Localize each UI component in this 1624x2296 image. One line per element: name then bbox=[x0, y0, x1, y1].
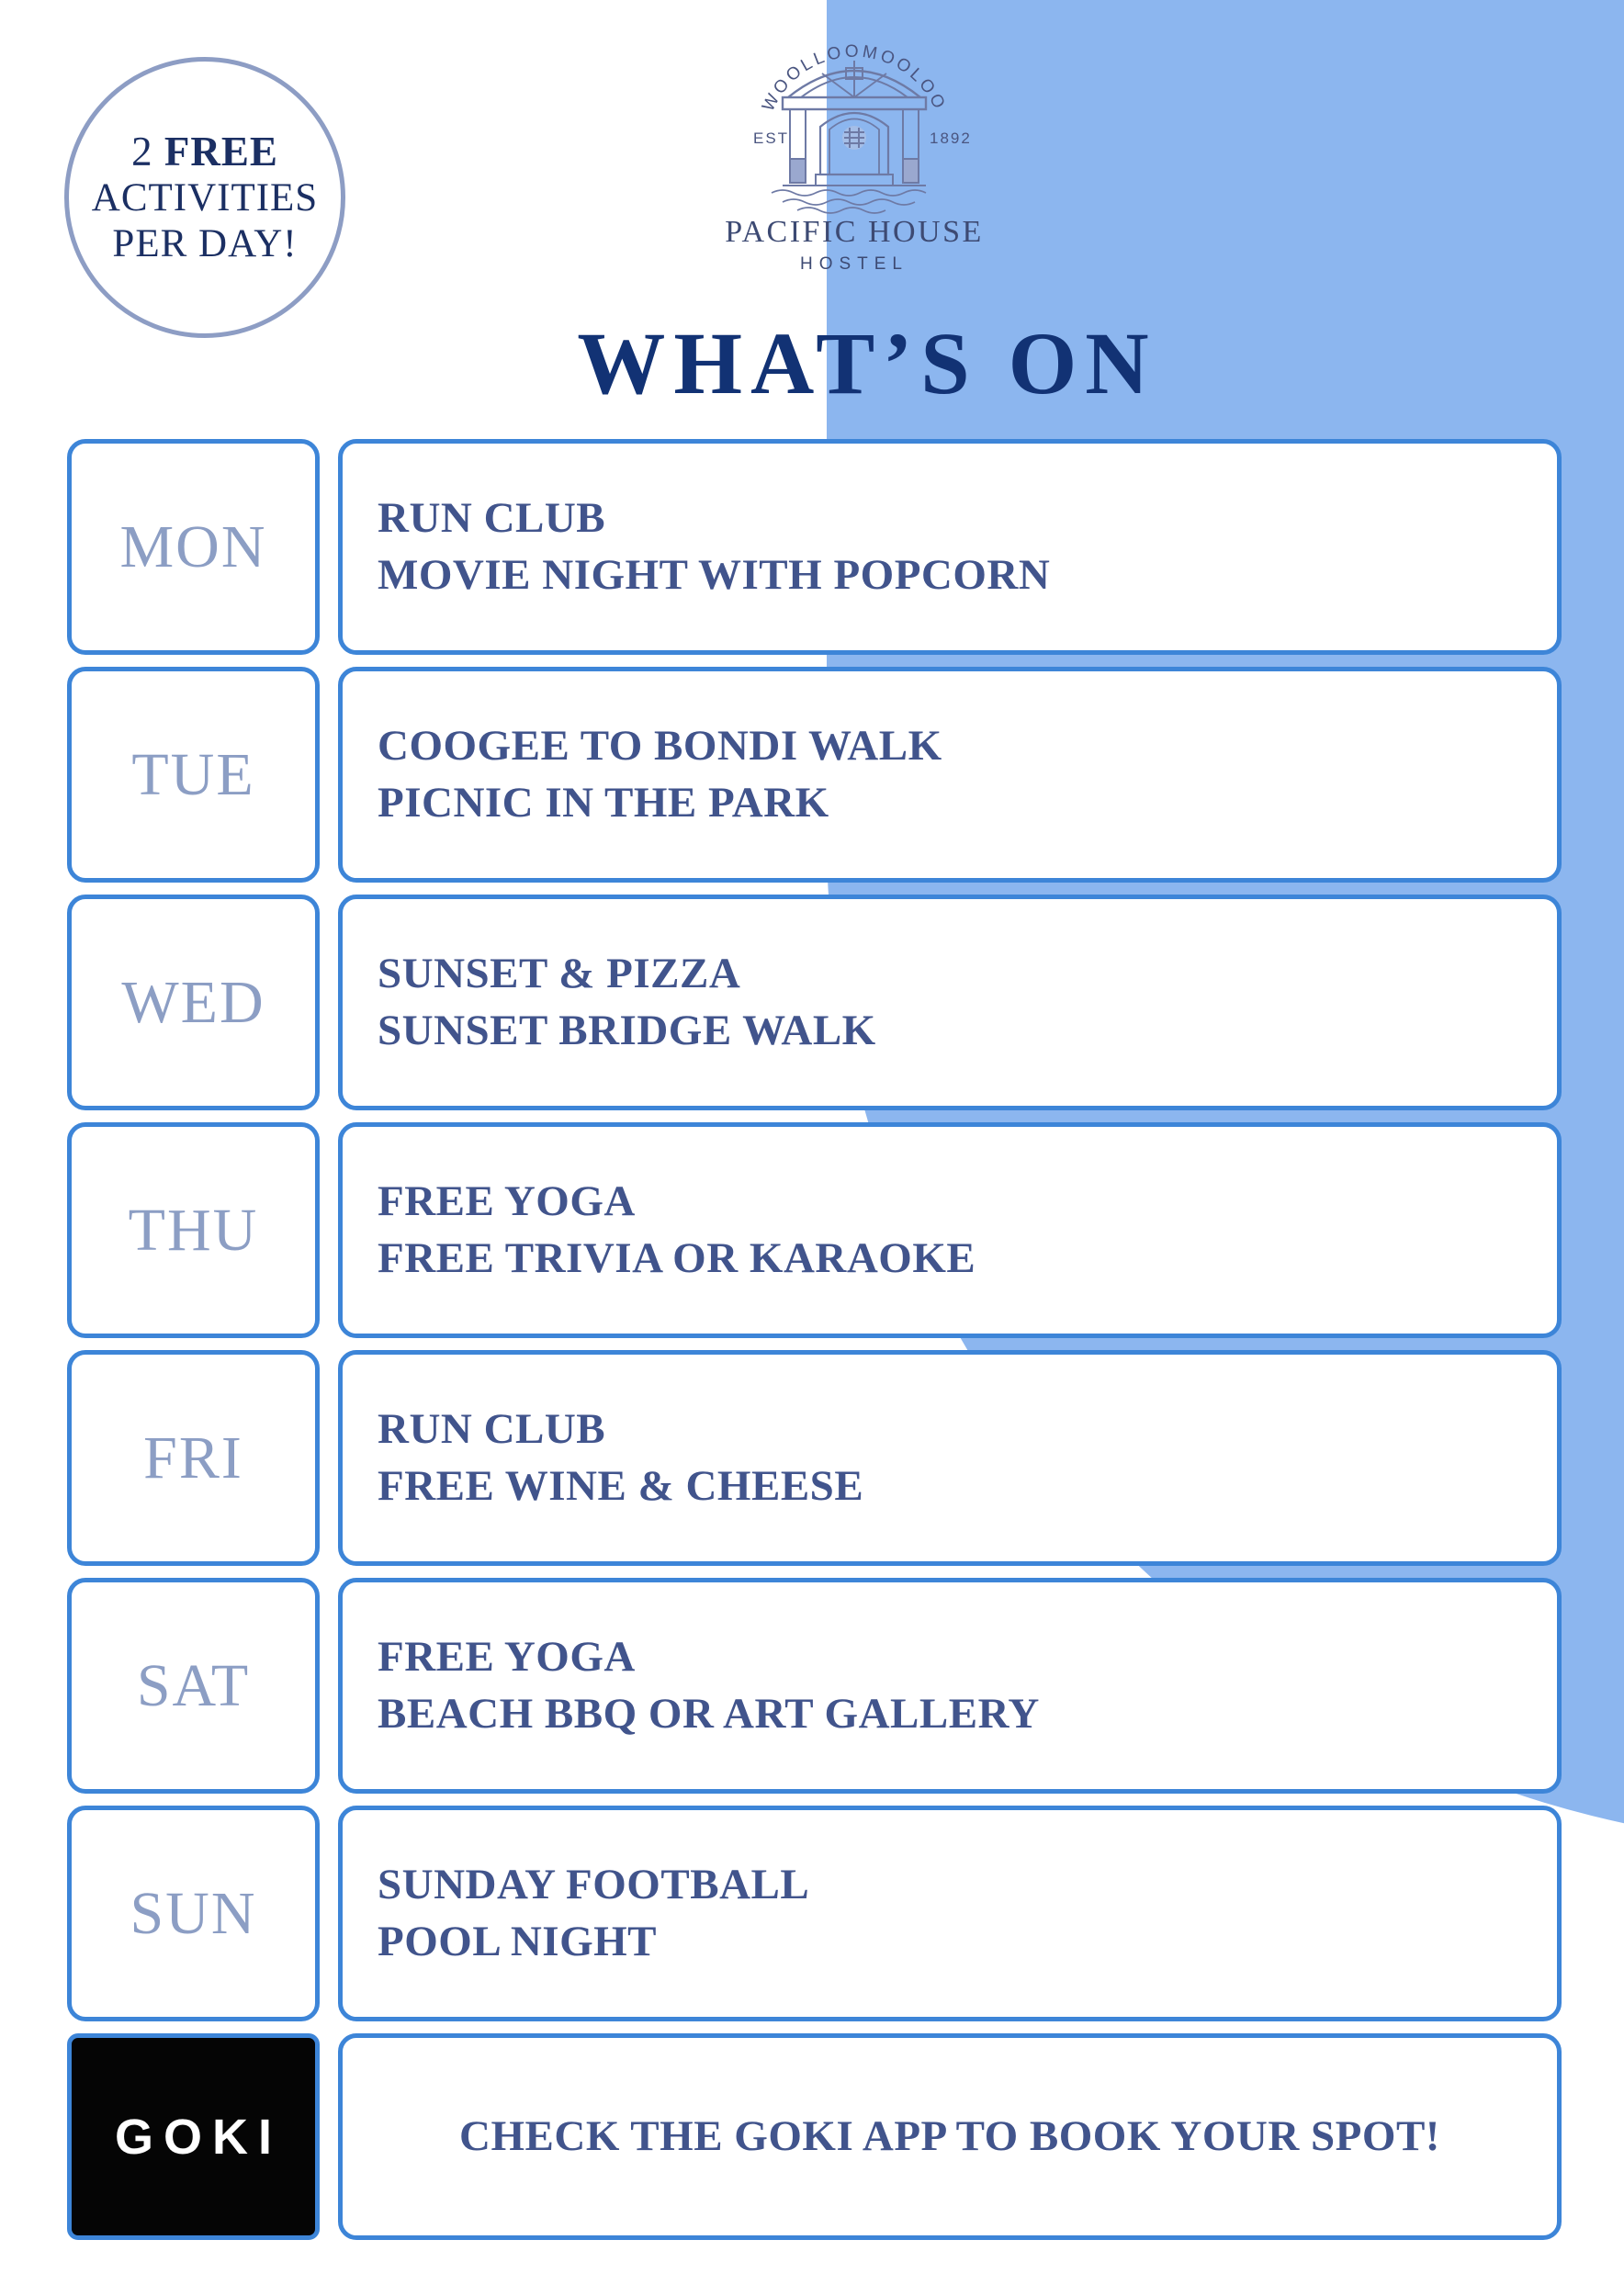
schedule-row: SUN SUNDAY FOOTBALL POOL NIGHT bbox=[0, 1806, 1624, 2021]
badge-line-2: ACTIVITIES bbox=[92, 175, 318, 221]
activity-line: MOVIE NIGHT WITH POPCORN bbox=[378, 547, 1522, 603]
day-card-fri[interactable]: FRI bbox=[67, 1350, 320, 1566]
svg-text:EST: EST bbox=[753, 129, 789, 147]
activity-line: SUNDAY FOOTBALL bbox=[378, 1857, 1522, 1913]
activity-line: COOGEE TO BONDI WALK bbox=[378, 718, 1522, 774]
free-activities-badge: 2 FREE ACTIVITIES PER DAY! bbox=[64, 57, 345, 338]
pacific-house-logo: WOOLLOOMOOLOO bbox=[698, 37, 1010, 294]
activities-card-sat[interactable]: FREE YOGA BEACH BBQ OR ART GALLERY bbox=[338, 1578, 1562, 1794]
page-title: WHAT’S ON bbox=[0, 312, 1624, 414]
activities-card-wed[interactable]: SUNSET & PIZZA SUNSET BRIDGE WALK bbox=[338, 895, 1562, 1110]
day-label: SUN bbox=[130, 1879, 256, 1949]
activity-line: SUNSET BRIDGE WALK bbox=[378, 1003, 1522, 1059]
activities-card-tue[interactable]: COOGEE TO BONDI WALK PICNIC IN THE PARK bbox=[338, 667, 1562, 883]
badge-line-3: PER DAY! bbox=[112, 221, 297, 267]
goki-wordmark: GOKI bbox=[105, 2109, 282, 2166]
activity-line: FREE YOGA bbox=[378, 1174, 1522, 1230]
activity-line: RUN CLUB bbox=[378, 1401, 1522, 1458]
activity-line: FREE TRIVIA OR KARAOKE bbox=[378, 1231, 1522, 1287]
activity-line: FREE WINE & CHEESE bbox=[378, 1458, 1522, 1514]
badge-line-1: 2 FREE bbox=[131, 128, 278, 175]
activity-line: BEACH BBQ OR ART GALLERY bbox=[378, 1686, 1522, 1742]
booking-cta-text: CHECK THE GOKI APP TO BOOK YOUR SPOT! bbox=[423, 2108, 1477, 2165]
goki-logo-card[interactable]: GOKI bbox=[67, 2033, 320, 2240]
schedule-row: WED SUNSET & PIZZA SUNSET BRIDGE WALK bbox=[0, 895, 1624, 1110]
logo-name: PACIFIC HOUSE bbox=[725, 215, 984, 250]
badge-free-word: FREE bbox=[164, 129, 278, 174]
day-label: TUE bbox=[131, 740, 254, 810]
logo-subtitle: HOSTEL bbox=[800, 254, 908, 275]
activity-line: PICNIC IN THE PARK bbox=[378, 775, 1522, 831]
day-card-thu[interactable]: THU bbox=[67, 1122, 320, 1338]
weekly-schedule: MON RUN CLUB MOVIE NIGHT WITH POPCORN TU… bbox=[0, 439, 1624, 2240]
schedule-row: FRI RUN CLUB FREE WINE & CHEESE bbox=[0, 1350, 1624, 1566]
day-card-tue[interactable]: TUE bbox=[67, 667, 320, 883]
whats-on-poster: 2 FREE ACTIVITIES PER DAY! WOOLLOOMOOLOO bbox=[0, 0, 1624, 2296]
day-label: THU bbox=[129, 1196, 259, 1266]
day-label: FRI bbox=[143, 1424, 243, 1493]
schedule-row: THU FREE YOGA FREE TRIVIA OR KARAOKE bbox=[0, 1122, 1624, 1338]
activities-card-thu[interactable]: FREE YOGA FREE TRIVIA OR KARAOKE bbox=[338, 1122, 1562, 1338]
activities-card-fri[interactable]: RUN CLUB FREE WINE & CHEESE bbox=[338, 1350, 1562, 1566]
day-card-mon[interactable]: MON bbox=[67, 439, 320, 655]
activity-line: POOL NIGHT bbox=[378, 1914, 1522, 1970]
schedule-row: SAT FREE YOGA BEACH BBQ OR ART GALLERY bbox=[0, 1578, 1624, 1794]
day-card-sun[interactable]: SUN bbox=[67, 1806, 320, 2021]
day-card-sat[interactable]: SAT bbox=[67, 1578, 320, 1794]
activities-card-mon[interactable]: RUN CLUB MOVIE NIGHT WITH POPCORN bbox=[338, 439, 1562, 655]
schedule-row: MON RUN CLUB MOVIE NIGHT WITH POPCORN bbox=[0, 439, 1624, 655]
day-label: MON bbox=[119, 512, 266, 582]
booking-cta-card[interactable]: CHECK THE GOKI APP TO BOOK YOUR SPOT! bbox=[338, 2033, 1562, 2240]
activity-line: RUN CLUB bbox=[378, 490, 1522, 546]
schedule-row: TUE COOGEE TO BONDI WALK PICNIC IN THE P… bbox=[0, 667, 1624, 883]
day-card-wed[interactable]: WED bbox=[67, 895, 320, 1110]
activity-line: FREE YOGA bbox=[378, 1629, 1522, 1685]
day-label: SAT bbox=[137, 1651, 250, 1721]
badge-count: 2 bbox=[131, 129, 164, 174]
day-label: WED bbox=[121, 968, 265, 1038]
footer-row: GOKI CHECK THE GOKI APP TO BOOK YOUR SPO… bbox=[0, 2033, 1624, 2240]
archway-doorway-icon: WOOLLOOMOOLOO bbox=[716, 37, 992, 217]
activity-line: SUNSET & PIZZA bbox=[378, 946, 1522, 1002]
activities-card-sun[interactable]: SUNDAY FOOTBALL POOL NIGHT bbox=[338, 1806, 1562, 2021]
svg-text:1892: 1892 bbox=[930, 129, 972, 147]
